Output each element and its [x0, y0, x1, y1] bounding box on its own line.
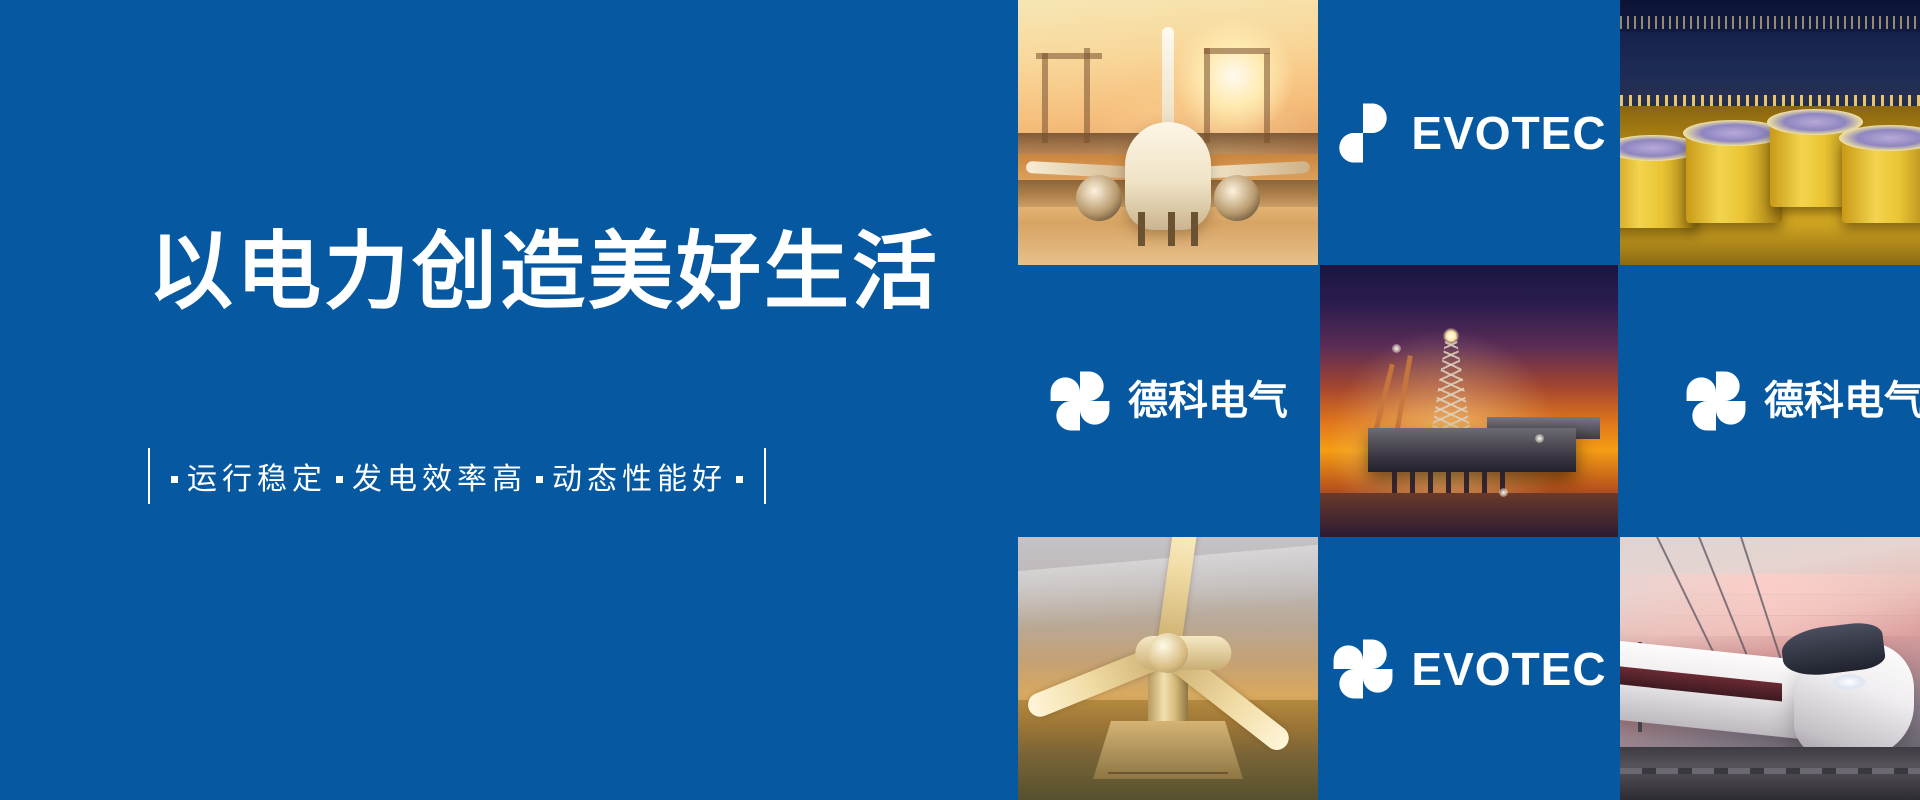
- bullet-square-icon: [171, 476, 178, 483]
- brand-wordmark: 德科电气: [1764, 381, 1920, 421]
- evotec-logo-bottom: EVOTEC: [1320, 537, 1618, 800]
- evotec-pinwheel-logo-icon: [1684, 369, 1748, 433]
- subtitle-item-3: 动态性能好: [552, 454, 727, 498]
- bullet-square-icon: [336, 476, 343, 483]
- bullet-square-icon: [736, 476, 743, 483]
- brand-wordmark: EVOTEC: [1411, 110, 1606, 156]
- evotec-logo-top: EVOTEC: [1320, 0, 1618, 265]
- evotec-pinwheel-logo-icon: [1048, 369, 1112, 433]
- page-headline: 以电力创造美好生活: [148, 228, 940, 318]
- oil-tank-farm-photo: [1620, 0, 1920, 265]
- evotec-pinwheel-logo-icon: [1331, 101, 1395, 165]
- high-speed-train-photo: [1620, 537, 1920, 800]
- deke-logo-middle-left: 德科电气: [1018, 265, 1318, 537]
- subtitle-item-1: 运行稳定: [187, 454, 327, 498]
- offshore-oil-rig-photo: [1320, 265, 1618, 537]
- brand-wordmark: EVOTEC: [1411, 646, 1606, 692]
- brand-logo: EVOTEC: [1331, 101, 1606, 165]
- brand-wordmark: 德科电气: [1128, 381, 1288, 421]
- subtitle-right-rule: [764, 448, 766, 504]
- bullet-square-icon: [536, 476, 543, 483]
- brand-logo: 德科电气: [1048, 369, 1288, 433]
- wind-turbine-photo: [1018, 537, 1318, 800]
- airplane-at-port-photo: [1018, 0, 1318, 265]
- subtitle-strip: 运行稳定 发电效率高 动态性能好: [148, 448, 766, 504]
- deke-logo-middle-right: 德科电气: [1620, 265, 1920, 537]
- brand-photo-mosaic: EVOTEC 德科电气: [1018, 0, 1920, 800]
- brand-logo: EVOTEC: [1331, 637, 1606, 701]
- banner-copy-block: 以电力创造美好生活 运行稳定 发电效率高 动态性能好: [0, 0, 1018, 800]
- subtitle-items: 运行稳定 发电效率高 动态性能好: [150, 454, 764, 498]
- evotec-pinwheel-logo-icon: [1331, 637, 1395, 701]
- subtitle-item-2: 发电效率高: [352, 454, 527, 498]
- brand-logo: 德科电气: [1684, 369, 1920, 433]
